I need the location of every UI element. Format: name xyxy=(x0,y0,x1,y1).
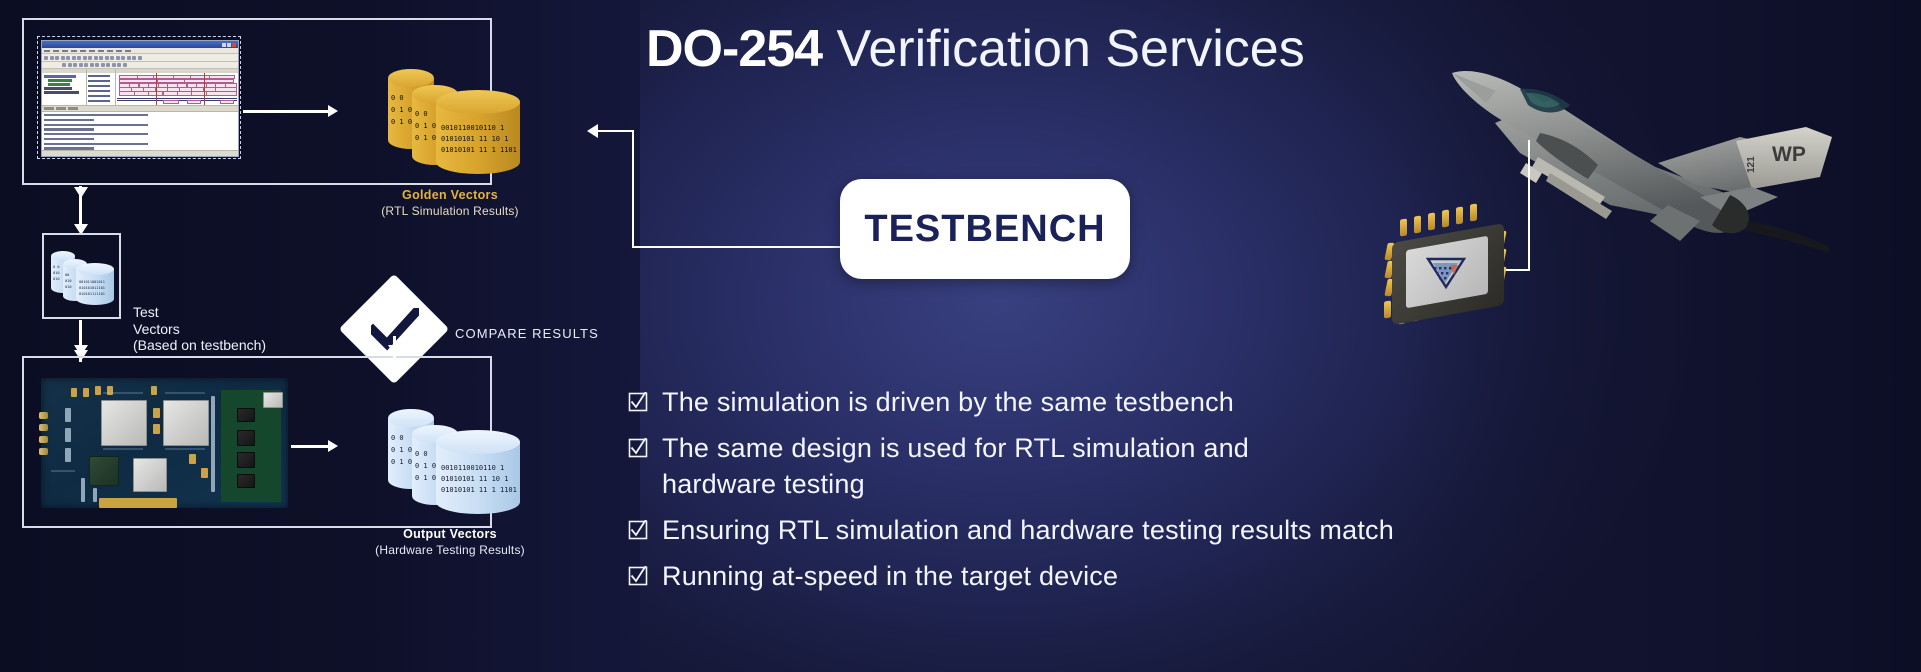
sim-toolbar-row2 xyxy=(42,62,238,69)
svg-text:0 0: 0 0 xyxy=(391,434,404,442)
golden-vectors-cylinders: 0 00 1 00 1 0 0 00 1 00 1 0 001011001011… xyxy=(386,60,526,175)
test-vectors-cylinders: 0 0010010 00010010 001011001011010101011… xyxy=(50,246,116,308)
svg-text:010: 010 xyxy=(65,279,72,283)
sim-window-title xyxy=(44,43,45,47)
svg-text:0010110010110 1: 0010110010110 1 xyxy=(441,464,504,472)
arrow-top-to-mid-head2 xyxy=(74,187,88,198)
svg-text:0 1 0: 0 1 0 xyxy=(415,134,436,142)
svg-text:010: 010 xyxy=(53,277,60,281)
svg-text:010101111101: 010101111101 xyxy=(79,292,105,296)
checkbox-checked-icon xyxy=(628,520,648,545)
svg-text:00: 00 xyxy=(65,273,69,277)
svg-text:01010101 11 10 1: 01010101 11 10 1 xyxy=(441,475,508,483)
sim-signal-names xyxy=(87,69,116,105)
list-item: The simulation is driven by the same tes… xyxy=(628,385,1528,421)
list-item-label: The simulation is driven by the same tes… xyxy=(662,385,1234,421)
svg-text:0010110010110 1: 0010110010110 1 xyxy=(441,124,504,132)
arrow-sim-to-golden-head xyxy=(328,105,338,117)
arrow-sim-to-golden-line xyxy=(243,110,329,113)
sim-window-buttons xyxy=(222,43,236,47)
testbench-connector-arrowhead xyxy=(587,124,598,138)
sim-statusbar xyxy=(42,150,238,156)
testbench-card: TESTBENCH xyxy=(840,179,1130,279)
jet-tail-number: 121 xyxy=(1746,156,1757,173)
test-vectors-label: Test Vectors (Based on testbench) xyxy=(133,304,266,354)
jet-tail-code: WP xyxy=(1772,143,1806,166)
svg-text:0 1 0: 0 1 0 xyxy=(415,474,436,482)
sim-waveform-area xyxy=(116,69,238,105)
svg-text:010: 010 xyxy=(53,271,60,275)
fpga-development-board xyxy=(41,378,288,508)
list-item-label: The same design is used for RTL simulati… xyxy=(662,431,1302,503)
benefits-list: The simulation is driven by the same tes… xyxy=(628,385,1528,605)
arrow-board-to-output-line xyxy=(291,445,329,448)
svg-text:010: 010 xyxy=(65,285,72,289)
svg-text:01010101 11 10 1: 01010101 11 10 1 xyxy=(441,135,508,143)
svg-text:0 1 0: 0 1 0 xyxy=(391,118,412,126)
svg-text:0 1 0: 0 1 0 xyxy=(391,446,412,454)
svg-text:0 1 0: 0 1 0 xyxy=(415,122,436,130)
sim-toolbar-row1 xyxy=(42,54,238,62)
page-title: DO-254 Verification Services xyxy=(646,19,1305,79)
infographic-canvas: 0 00 1 00 1 0 0 00 1 00 1 0 001011001011… xyxy=(0,0,1921,672)
checkbox-checked-icon xyxy=(628,566,648,591)
testbench-connector-horizontal xyxy=(632,246,842,248)
svg-text:0 0: 0 0 xyxy=(415,110,428,118)
diamond-top-connector xyxy=(393,281,395,293)
testbench-connector-to-panel xyxy=(598,130,634,132)
list-item: Ensuring RTL simulation and hardware tes… xyxy=(628,513,1528,549)
svg-text:01010101 11 1 1101: 01010101 11 1 1101 xyxy=(441,146,517,154)
svg-text:0 1 0: 0 1 0 xyxy=(415,462,436,470)
compare-results-label: COMPARE RESULTS xyxy=(455,326,599,341)
arrow-diamond-to-bottom-head xyxy=(388,345,402,356)
list-item: The same design is used for RTL simulati… xyxy=(628,431,1528,503)
golden-vectors-label: Golden Vectors (RTL Simulation Results) xyxy=(330,188,570,219)
svg-text:0 0: 0 0 xyxy=(415,450,428,458)
svg-text:0 0: 0 0 xyxy=(53,265,60,269)
rtl-simulation-screenshot xyxy=(37,36,241,159)
list-item: Running at-speed in the target device xyxy=(628,559,1528,595)
checkbox-checked-icon xyxy=(628,392,648,417)
svg-text:0 0: 0 0 xyxy=(391,94,404,102)
chip-leader-vertical xyxy=(1528,140,1530,270)
sim-transcript-log xyxy=(42,111,238,150)
list-item-label: Ensuring RTL simulation and hardware tes… xyxy=(662,513,1394,549)
output-vectors-label: Output Vectors (Hardware Testing Results… xyxy=(330,527,570,558)
checkbox-checked-icon xyxy=(628,438,648,463)
integrated-circuit-chip xyxy=(1368,215,1528,335)
arrow-board-to-output-head xyxy=(328,440,338,452)
sim-window-titlebar xyxy=(42,41,238,48)
output-vectors-cylinders: 0 00 1 00 1 0 0 00 1 00 1 0 001011001011… xyxy=(386,400,526,515)
list-item-label: Running at-speed in the target device xyxy=(662,559,1118,595)
arrow-into-bottom-left xyxy=(74,345,88,356)
testbench-connector-vertical xyxy=(632,130,634,248)
svg-text:001011001011: 001011001011 xyxy=(79,280,105,284)
sim-signal-tree xyxy=(42,69,87,105)
svg-text:01010101 11 1 1101: 01010101 11 1 1101 xyxy=(441,486,517,494)
die-logo-icon xyxy=(1424,253,1472,293)
svg-text:0 1 0: 0 1 0 xyxy=(391,106,412,114)
svg-text:0 1 0: 0 1 0 xyxy=(391,458,412,466)
svg-text:010101011101: 010101011101 xyxy=(79,286,105,290)
testbench-label: TESTBENCH xyxy=(864,208,1105,251)
